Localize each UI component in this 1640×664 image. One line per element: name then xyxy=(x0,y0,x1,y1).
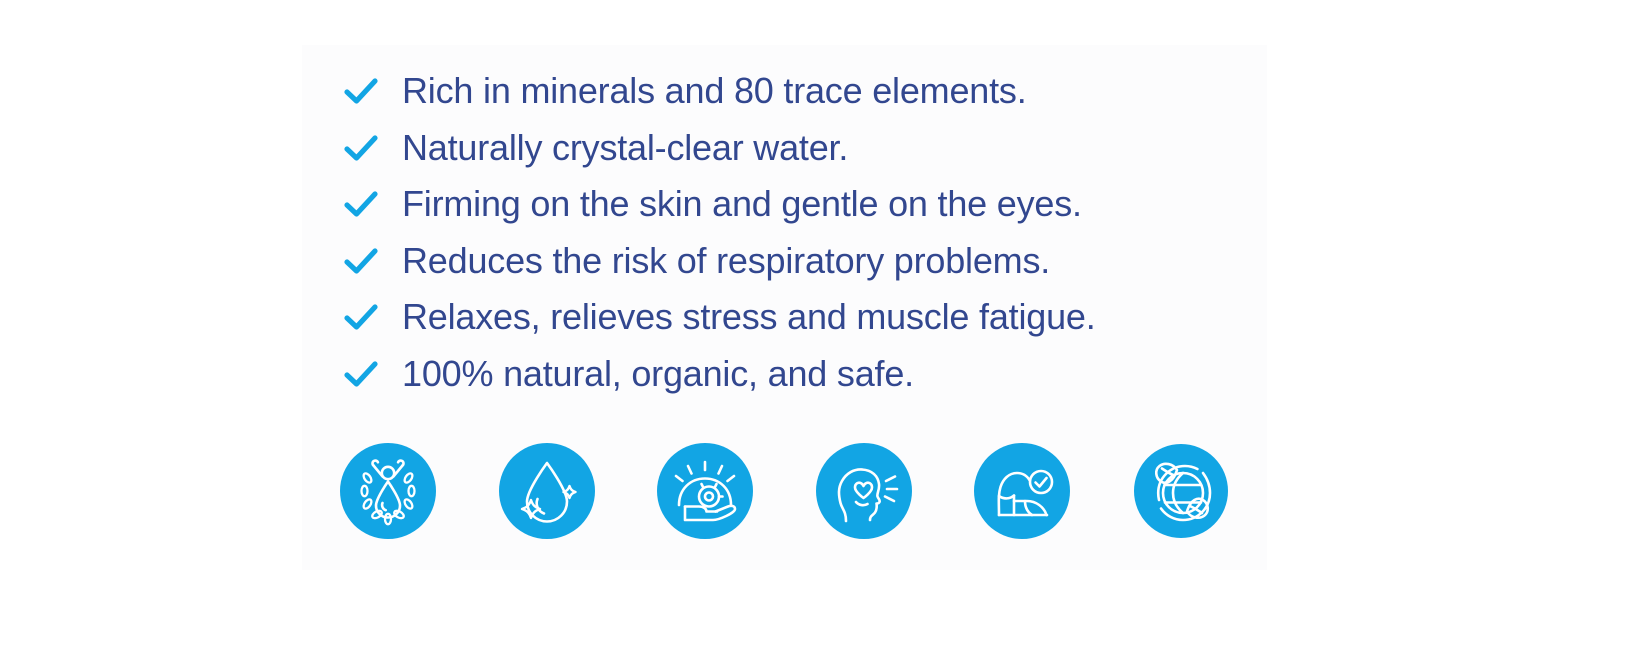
benefits-list: Rich in minerals and 80 trace elements. … xyxy=(342,63,1096,402)
check-icon xyxy=(342,354,402,394)
mineral-rich-person-droplet-icon xyxy=(340,443,436,539)
benefit-text: Firming on the skin and gentle on the ey… xyxy=(402,186,1082,222)
list-item: Firming on the skin and gentle on the ey… xyxy=(342,176,1096,233)
benefit-text: Naturally crystal-clear water. xyxy=(402,130,848,166)
sparkling-water-droplet-icon xyxy=(499,443,595,539)
head-breathing-respiratory-icon xyxy=(816,443,912,539)
list-item: Naturally crystal-clear water. xyxy=(342,120,1096,177)
list-item: Relaxes, relieves stress and muscle fati… xyxy=(342,289,1096,346)
hand-holding-eye-icon xyxy=(657,443,753,539)
check-icon xyxy=(342,241,402,281)
benefit-text: Relaxes, relieves stress and muscle fati… xyxy=(402,299,1096,335)
list-item: 100% natural, organic, and safe. xyxy=(342,346,1096,403)
benefit-text: 100% natural, organic, and safe. xyxy=(402,356,914,392)
list-item: Rich in minerals and 80 trace elements. xyxy=(342,63,1096,120)
check-icon xyxy=(342,184,402,224)
flexed-arm-check-icon xyxy=(974,443,1070,539)
list-item: Reduces the risk of respiratory problems… xyxy=(342,233,1096,290)
globe-leaf-eco-icon xyxy=(1133,443,1229,539)
check-icon xyxy=(342,71,402,111)
benefits-panel: Rich in minerals and 80 trace elements. … xyxy=(302,45,1267,570)
check-icon xyxy=(342,297,402,337)
benefit-icon-row xyxy=(340,443,1229,539)
check-icon xyxy=(342,128,402,168)
benefit-text: Reduces the risk of respiratory problems… xyxy=(402,243,1050,279)
benefit-text: Rich in minerals and 80 trace elements. xyxy=(402,73,1027,109)
